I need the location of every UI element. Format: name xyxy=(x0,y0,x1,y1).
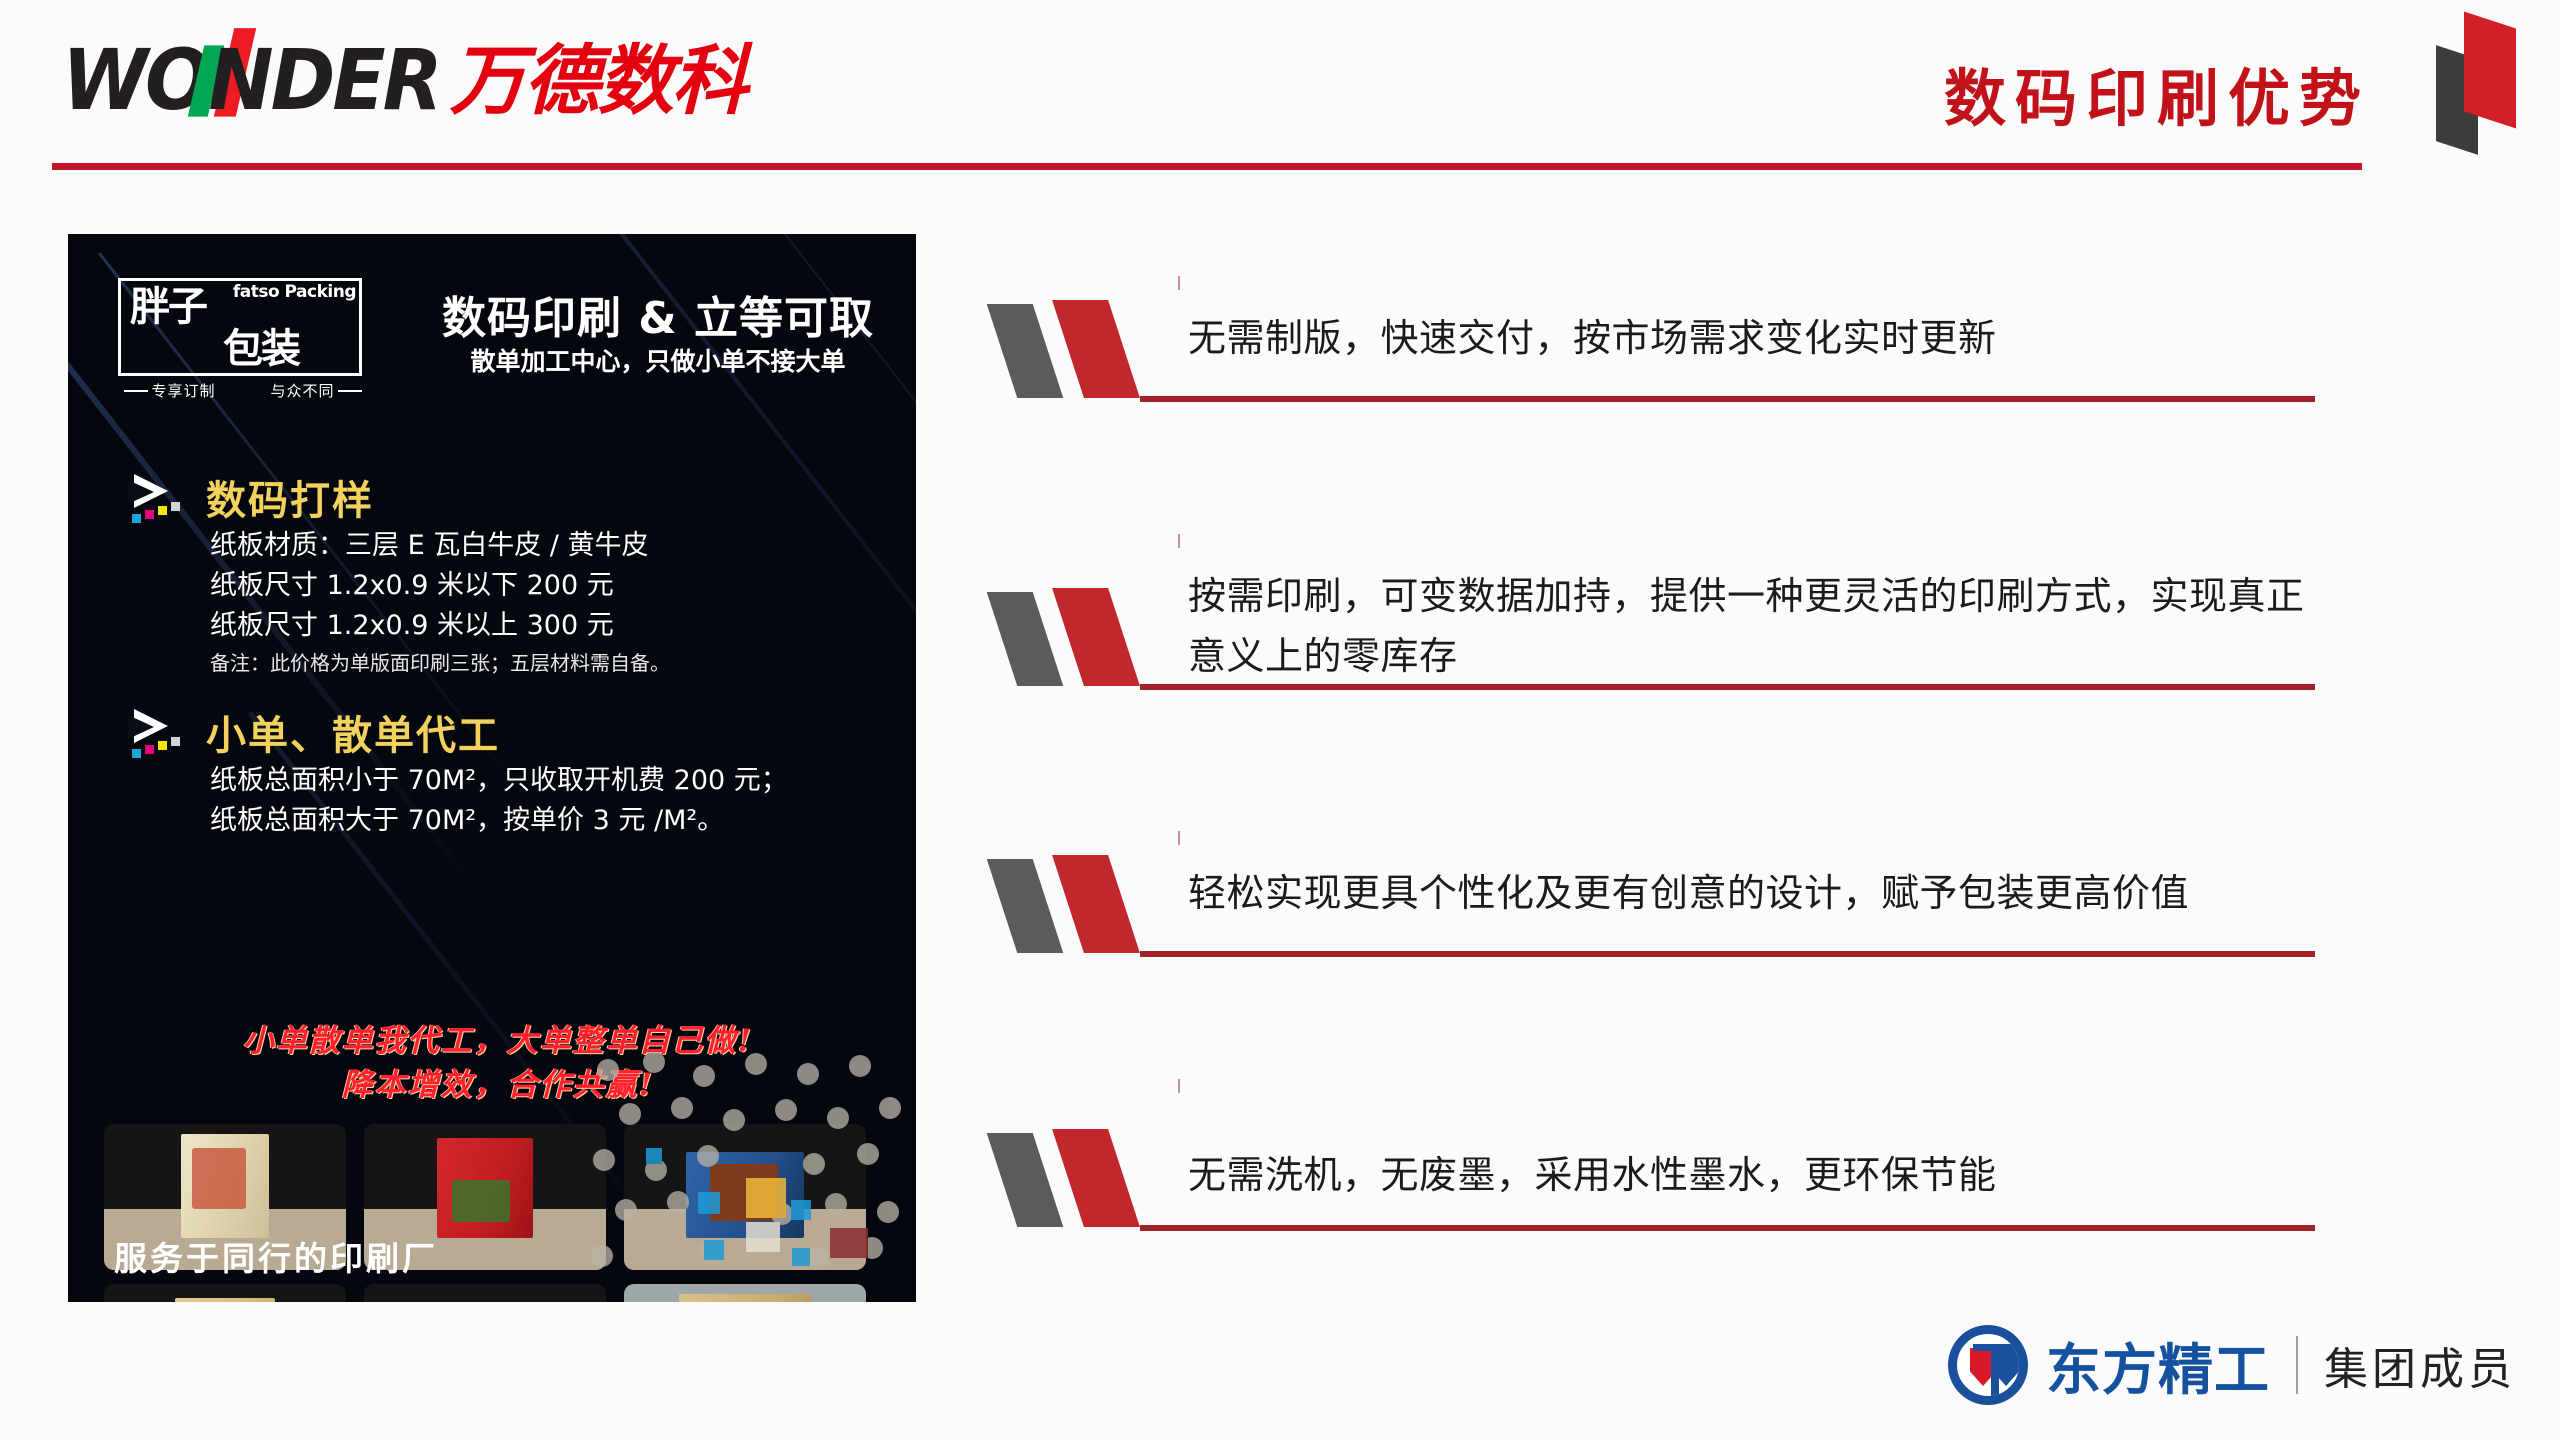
product-photo xyxy=(104,1284,346,1302)
bullet-marker-icon xyxy=(1000,1129,1160,1229)
product-photo xyxy=(624,1124,866,1270)
marker-red-bar xyxy=(1052,855,1140,953)
poster-slogan: 小单散单我代工，大单整单自己做! 降本增效，合作共赢! xyxy=(128,1019,868,1107)
cmyk-dot-cyan xyxy=(132,514,141,523)
marker-gray-bar xyxy=(987,859,1064,953)
marker-red-bar xyxy=(1052,1129,1140,1227)
logo-subtitle-left: 专享订制 xyxy=(151,380,215,401)
advantage-text-4: 无需洗机，无废墨，采用水性墨水，更环保节能 xyxy=(1188,1145,2338,1205)
marker-gray-bar xyxy=(987,1133,1064,1227)
chevron-inner xyxy=(128,480,154,504)
poster-subheadline: 散单加工中心，只做小单不接大单 xyxy=(438,342,878,378)
section-2-body: 纸板总面积小于 70M²，只收取开机费 200 元； 纸板总面积大于 70M²，… xyxy=(210,761,788,841)
logo-cn-line2: 包装 xyxy=(223,316,299,374)
poster-slogan-line-2: 降本增效，合作共赢! xyxy=(128,1063,868,1107)
section-1-body: 纸板材质：三层 E 瓦白牛皮 / 黄牛皮 纸板尺寸 1.2x0.9 米以下 20… xyxy=(210,526,670,680)
page-title: 数码印刷优势 xyxy=(1944,48,2370,138)
advantage-underline-3 xyxy=(1140,951,2315,957)
section-2-line-2: 纸板总面积大于 70M²，按单价 3 元 /M²。 xyxy=(210,801,788,841)
chevron-arrow-icon xyxy=(128,474,198,532)
promo-poster-image: 胖子 fatso Packing 包装 专享订制 与众不同 数码印刷 & 立等可… xyxy=(68,234,916,1302)
poster-footer-text: 服务于同行的印刷厂 xyxy=(114,1232,438,1280)
marker-red-bar xyxy=(1052,300,1140,398)
wonder-brand-logo: WONDER 万德数科 xyxy=(62,42,746,120)
chevron-arrow-icon xyxy=(128,709,198,767)
section-1-line-2: 纸板尺寸 1.2x0.9 米以下 200 元 xyxy=(210,566,670,606)
marker-gray-bar xyxy=(987,304,1064,398)
section-1-line-3: 纸板尺寸 1.2x0.9 米以上 300 元 xyxy=(210,606,670,646)
header-divider xyxy=(52,163,2362,170)
cmyk-dot-yellow xyxy=(158,741,167,750)
section-2-title: 小单、散单代工 xyxy=(206,703,500,761)
footer-divider xyxy=(2296,1336,2298,1394)
logo-subtitle: 专享订制 与众不同 xyxy=(124,380,362,401)
advantage-underline-2 xyxy=(1140,684,2315,690)
dfjg-badge-icon xyxy=(1948,1325,2028,1405)
advantage-text-2: 按需印刷，可变数据加持，提供一种更灵活的印刷方式，实现真正意义上的零库存 xyxy=(1188,566,2338,686)
tick-mark xyxy=(1178,1079,1180,1093)
t-stem-shape xyxy=(1991,1344,1999,1400)
cmyk-dot-cyan xyxy=(132,749,141,758)
bullet-marker-icon xyxy=(1000,300,1160,400)
wonder-chinese-name: 万德数科 xyxy=(450,43,746,119)
section-2-line-1: 纸板总面积小于 70M²，只收取开机费 200 元； xyxy=(210,761,788,801)
corner-mark-red-shape xyxy=(2464,12,2516,129)
logo-subtitle-right: 与众不同 xyxy=(270,380,334,401)
advantage-text-3: 轻松实现更具个性化及更有创意的设计，赋予包装更高价值 xyxy=(1188,863,2338,923)
cmyk-dot-magenta xyxy=(145,745,154,754)
product-photo xyxy=(364,1284,606,1302)
section-1-title: 数码打样 xyxy=(206,468,374,526)
cmyk-dot-key xyxy=(171,737,180,746)
bullet-marker-icon xyxy=(1000,855,1160,955)
chevron-inner xyxy=(128,715,154,739)
advantage-underline-4 xyxy=(1140,1225,2315,1231)
tick-mark xyxy=(1178,276,1180,290)
cmyk-dot-yellow xyxy=(158,506,167,515)
section-1-line-1: 纸板材质：三层 E 瓦白牛皮 / 黄牛皮 xyxy=(210,526,670,566)
footer-company-name: 东方精工 xyxy=(2046,1325,2270,1405)
cmyk-dot-magenta xyxy=(145,510,154,519)
product-photo xyxy=(624,1284,866,1302)
advantage-text-1: 无需制版，快速交付，按市场需求变化实时更新 xyxy=(1188,308,2338,368)
bullet-marker-icon xyxy=(1000,588,1160,688)
logo-en-text: fatso Packing xyxy=(233,282,356,302)
poster-slogan-line-1: 小单散单我代工，大单整单自己做! xyxy=(128,1019,868,1063)
wonder-wordmark: WONDER xyxy=(62,39,440,123)
logo-cn-line1: 胖子 xyxy=(130,286,206,328)
page-header: WONDER 万德数科 数码印刷优势 xyxy=(0,0,2560,175)
tick-mark xyxy=(1178,831,1180,845)
tick-mark xyxy=(1178,534,1180,548)
footer-member-label: 集团成员 xyxy=(2324,1333,2516,1397)
dongfang-jinggong-logo: 东方精工 集团成员 xyxy=(1948,1315,2516,1415)
cmyk-dot-key xyxy=(171,502,180,511)
wonder-n-accent: N xyxy=(208,39,270,123)
advantage-underline-1 xyxy=(1140,396,2315,402)
corner-mark-icon xyxy=(2426,8,2536,163)
fatso-packing-logo: 胖子 fatso Packing 包装 专享订制 与众不同 xyxy=(118,272,366,412)
section-1-note: 备注：此价格为单版面印刷三张；五层材料需自备。 xyxy=(210,646,670,680)
marker-gray-bar xyxy=(987,592,1064,686)
marker-red-bar xyxy=(1052,588,1140,686)
poster-headline: 数码印刷 & 立等可取 xyxy=(438,282,878,346)
